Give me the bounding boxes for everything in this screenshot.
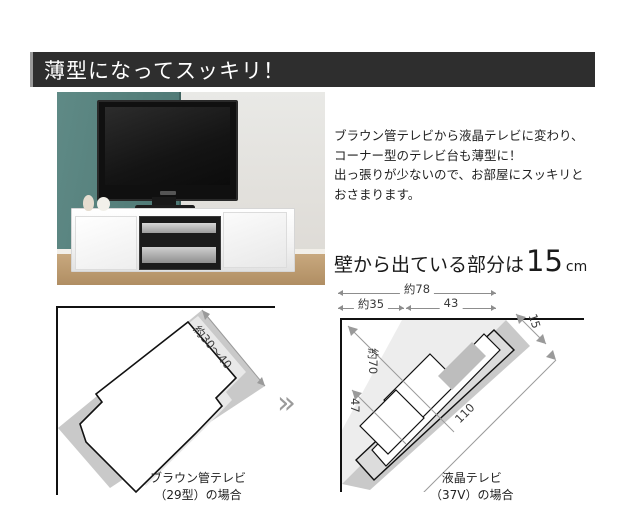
photo-ornament-vase <box>83 195 94 211</box>
caption-crt: ブラウン管テレビ （29型）の場合 <box>150 470 246 504</box>
floorplan-lcd-diagram: 約70 47 110 15 <box>334 312 584 492</box>
headline-number: 15 <box>526 247 563 276</box>
caption-lcd-line-2: （37V）の場合 <box>430 487 513 504</box>
photo-av-device-bottom <box>142 247 216 263</box>
transition-arrow-icon: » <box>277 388 291 419</box>
caption-lcd: 液晶テレビ （37V）の場合 <box>430 470 513 504</box>
photo-tv-screen <box>105 107 230 185</box>
dimension-left-segment-label: 約35 <box>354 296 388 312</box>
headline-prefix: 壁から出ている部分は <box>334 250 524 277</box>
corner-tv-stand-photo <box>57 92 325 285</box>
photo-av-device-top <box>142 223 216 233</box>
body-copy-line-2: コーナー型のテレビ台も薄型に！ <box>334 146 604 166</box>
body-copy: ブラウン管テレビから液晶テレビに変わり、 コーナー型のテレビ台も薄型に！ 出っ張… <box>334 126 604 204</box>
photo-cabinet-door-right <box>223 212 287 268</box>
section-header-bar: 薄型になってスッキリ！ <box>30 52 595 87</box>
header-title: 薄型になってスッキリ！ <box>33 55 285 85</box>
caption-lcd-line-1: 液晶テレビ <box>430 470 513 487</box>
photo-ornament-ball <box>97 197 110 211</box>
wall-clearance-headline: 壁から出ている部分は 15 cm <box>334 247 587 277</box>
dimension-right-segment-label: 43 <box>440 296 463 310</box>
body-copy-line-1: ブラウン管テレビから液晶テレビに変わり、 <box>334 126 604 146</box>
photo-tv-logo <box>160 191 176 195</box>
body-copy-line-3: 出っ張りが少ないので、お部屋にスッキリと <box>334 165 604 185</box>
caption-crt-line-2: （29型）の場合 <box>150 487 246 504</box>
caption-crt-line-1: ブラウン管テレビ <box>150 470 246 487</box>
advertisement-page: 薄型になってスッキリ！ ブラウン管テレビから液晶テレビに変わり、 コーナー型のテ… <box>0 0 625 530</box>
lcd-short-diagonal-label: 47 <box>348 398 362 413</box>
body-copy-line-4: おさまります。 <box>334 185 604 205</box>
photo-television <box>97 100 238 201</box>
lcd-inner-diagonal-label: 約70 <box>365 348 381 374</box>
floorplan-crt-diagram: 約30〜40 <box>50 300 275 495</box>
headline-unit: cm <box>566 259 587 275</box>
photo-cabinet-door-left <box>75 216 137 270</box>
lcd-footprint-svg <box>334 312 584 492</box>
crt-footprint-svg <box>50 300 275 495</box>
lcd-outer-diagonal-arrow <box>546 350 556 360</box>
dimension-total-width-label: 約78 <box>400 281 434 297</box>
